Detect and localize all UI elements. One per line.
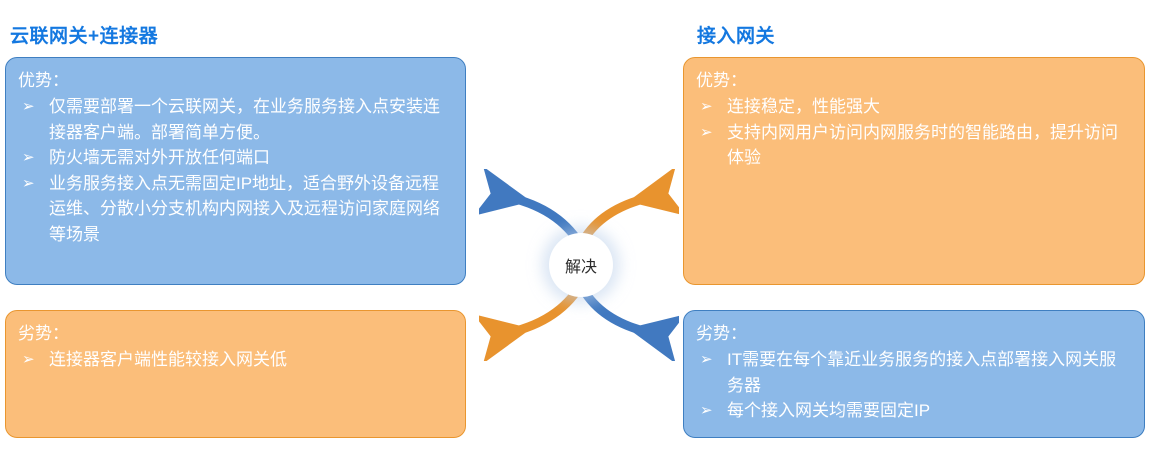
list-item-text: 防火墙无需对外开放任何端口 (49, 148, 270, 167)
bullet-arrow-icon: ➢ (700, 347, 713, 373)
right-disadvantages-list: ➢ IT需要在每个靠近业务服务的接入点部署接入网关服务器 ➢ 每个接入网关均需要… (696, 347, 1132, 424)
list-item: ➢ 连接器客户端性能较接入网关低 (18, 347, 453, 373)
right-disadvantages-panel: 劣势： ➢ IT需要在每个靠近业务服务的接入点部署接入网关服务器 ➢ 每个接入网… (683, 310, 1145, 438)
right-disadvantages-label: 劣势： (696, 321, 1132, 346)
bullet-arrow-icon: ➢ (22, 145, 35, 171)
list-item-text: 仅需要部署一个云联网关，在业务服务接入点安装连接器客户端。部署简单方便。 (49, 97, 440, 142)
list-item-text: 连接稳定，性能强大 (727, 97, 880, 116)
left-disadvantages-list: ➢ 连接器客户端性能较接入网关低 (18, 347, 453, 373)
left-advantages-label: 优势： (18, 68, 453, 93)
right-advantages-list: ➢ 连接稳定，性能强大 ➢ 支持内网用户访问内网服务时的智能路由，提升访问体验 (696, 94, 1132, 171)
list-item: ➢ IT需要在每个靠近业务服务的接入点部署接入网关服务器 (696, 347, 1132, 398)
list-item: ➢ 连接稳定，性能强大 (696, 94, 1132, 120)
left-disadvantages-panel: 劣势： ➢ 连接器客户端性能较接入网关低 (5, 310, 466, 438)
bullet-arrow-icon: ➢ (700, 94, 713, 120)
solution-circle: 解决 (549, 233, 613, 297)
list-item-text: 每个接入网关均需要固定IP (727, 401, 930, 420)
left-column-title: 云联网关+连接器 (10, 21, 158, 48)
left-advantages-list: ➢ 仅需要部署一个云联网关，在业务服务接入点安装连接器客户端。部署简单方便。 ➢… (18, 94, 453, 247)
right-advantages-panel: 优势： ➢ 连接稳定，性能强大 ➢ 支持内网用户访问内网服务时的智能路由，提升访… (683, 57, 1145, 285)
right-advantages-label: 优势： (696, 68, 1132, 93)
right-column-title: 接入网关 (697, 21, 775, 48)
solution-label: 解决 (565, 253, 597, 277)
left-disadvantages-label: 劣势： (18, 321, 453, 346)
bullet-arrow-icon: ➢ (700, 398, 713, 424)
list-item: ➢ 每个接入网关均需要固定IP (696, 398, 1132, 424)
list-item-text: 支持内网用户访问内网服务时的智能路由，提升访问体验 (727, 123, 1118, 168)
center-solution-graphic: 解决 (479, 169, 679, 361)
list-item-text: 连接器客户端性能较接入网关低 (49, 350, 287, 369)
bullet-arrow-icon: ➢ (22, 347, 35, 373)
bullet-arrow-icon: ➢ (700, 120, 713, 146)
bullet-arrow-icon: ➢ (22, 94, 35, 120)
list-item: ➢ 业务服务接入点无需固定IP地址，适合野外设备远程运维、分散小分支机构内网接入… (18, 171, 453, 248)
list-item-text: IT需要在每个靠近业务服务的接入点部署接入网关服务器 (727, 350, 1116, 395)
list-item: ➢ 仅需要部署一个云联网关，在业务服务接入点安装连接器客户端。部署简单方便。 (18, 94, 453, 145)
left-advantages-panel: 优势： ➢ 仅需要部署一个云联网关，在业务服务接入点安装连接器客户端。部署简单方… (5, 57, 466, 285)
list-item: ➢ 支持内网用户访问内网服务时的智能路由，提升访问体验 (696, 120, 1132, 171)
bullet-arrow-icon: ➢ (22, 171, 35, 197)
list-item: ➢ 防火墙无需对外开放任何端口 (18, 145, 453, 171)
list-item-text: 业务服务接入点无需固定IP地址，适合野外设备远程运维、分散小分支机构内网接入及远… (49, 174, 440, 244)
